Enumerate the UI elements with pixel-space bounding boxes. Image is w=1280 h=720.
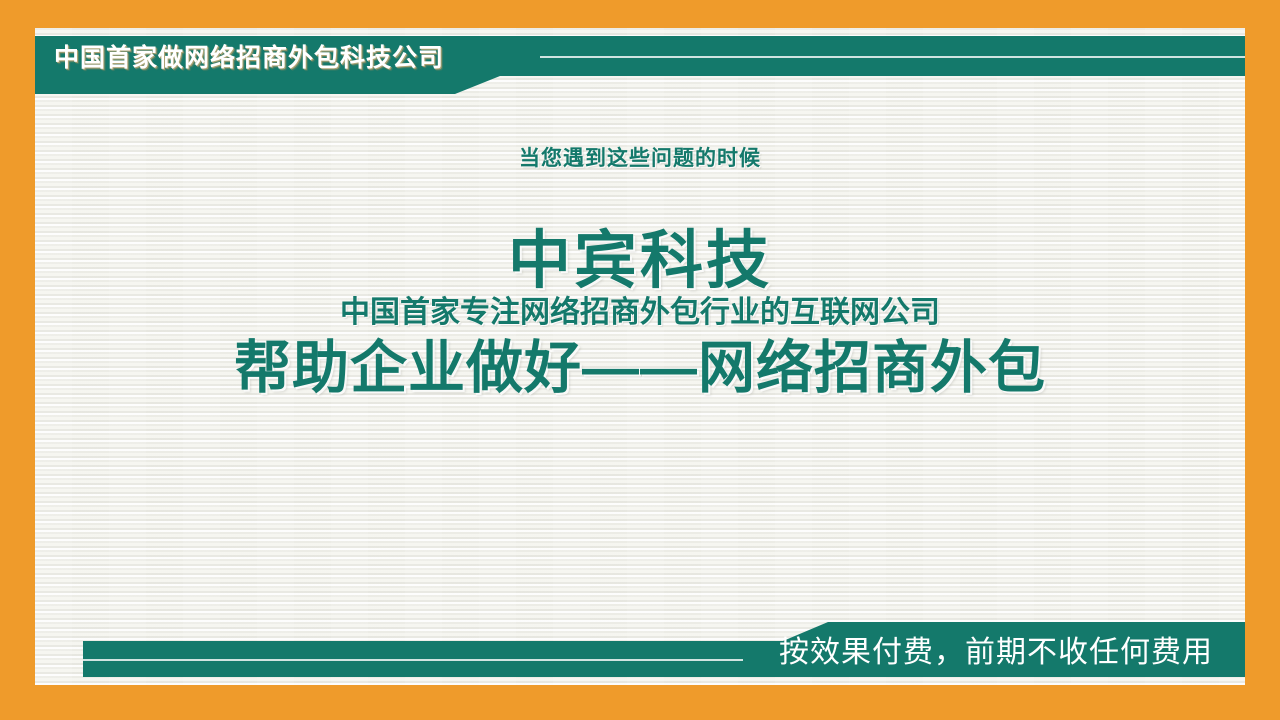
slide-content: 当您遇到这些问题的时候 中宾科技 中国首家专注网络招商外包行业的互联网公司 帮助…: [35, 146, 1245, 402]
header-banner: 中国首家做网络招商外包科技公司: [35, 36, 1245, 94]
footer-slogan: 按效果付费，前期不收任何费用: [779, 633, 1213, 673]
main-headline: 帮助企业做好——网络招商外包: [35, 334, 1245, 402]
presentation-slide: 中国首家做网络招商外包科技公司 当您遇到这些问题的时候 中宾科技 中国首家专注网…: [0, 0, 1280, 720]
footer-banner: 按效果付费，前期不收任何费用: [83, 622, 1245, 677]
footer-banner-hairline: [83, 659, 743, 661]
brand-tagline: 中国首家专注网络招商外包行业的互联网公司: [35, 294, 1245, 332]
header-title: 中国首家做网络招商外包科技公司: [54, 43, 444, 73]
brand-name: 中宾科技: [35, 226, 1245, 296]
eyebrow-text: 当您遇到这些问题的时候: [35, 146, 1245, 172]
header-banner-hairline: [540, 56, 1245, 58]
slide-paper-panel: 中国首家做网络招商外包科技公司 当您遇到这些问题的时候 中宾科技 中国首家专注网…: [35, 28, 1245, 685]
